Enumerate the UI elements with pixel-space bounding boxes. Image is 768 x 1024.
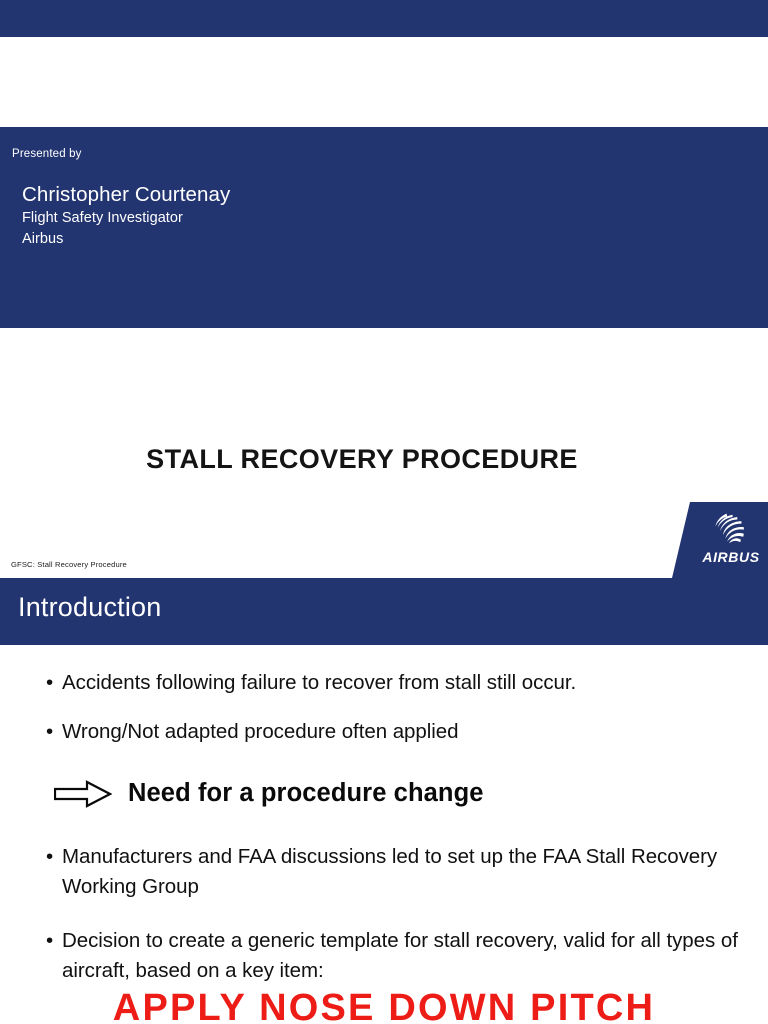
title-slide: Presented by Christopher Courtenay Fligh… <box>0 0 768 578</box>
presented-by-label: Presented by <box>12 148 82 160</box>
list-item: • Manufacturers and FAA discussions led … <box>0 842 768 902</box>
bullet-marker-icon: • <box>46 842 62 872</box>
emphasis-text: Need for a procedure change <box>128 772 484 814</box>
introduction-slide: Introduction • Accidents following failu… <box>0 578 768 1024</box>
list-item: • Wrong/Not adapted procedure often appl… <box>0 717 768 747</box>
page-title: STALL RECOVERY PROCEDURE <box>0 444 724 475</box>
list-item-text: Decision to create a generic template fo… <box>0 926 768 986</box>
presenter-company: Airbus <box>22 231 63 247</box>
list-item-text: Wrong/Not adapted procedure often applie… <box>0 717 768 747</box>
bullet-marker-icon: • <box>46 926 62 956</box>
list-item-text: Accidents following failure to recover f… <box>0 668 768 698</box>
presentation-page: Presented by Christopher Courtenay Fligh… <box>0 0 768 1024</box>
presenter-role: Flight Safety Investigator <box>22 210 183 226</box>
airbus-wordmark: AIRBUS <box>696 549 766 565</box>
presenter-block: Presented by Christopher Courtenay Fligh… <box>0 127 768 328</box>
top-blue-bar <box>0 0 768 37</box>
section-heading: Introduction <box>18 592 162 623</box>
slide-footer-note: GFSC: Stall Recovery Procedure <box>11 560 127 569</box>
list-item: • Accidents following failure to recover… <box>0 668 768 698</box>
section-header-band: Introduction <box>0 578 768 645</box>
key-item-callout: APPLY NOSE DOWN PITCH <box>0 987 768 1024</box>
emphasis-row: Need for a procedure change <box>0 772 768 816</box>
presenter-name: Christopher Courtenay <box>22 183 230 207</box>
bullet-marker-icon: • <box>46 717 62 747</box>
airbus-swirl-icon <box>710 510 748 548</box>
list-item-text: Manufacturers and FAA discussions led to… <box>0 842 768 902</box>
right-block-arrow-icon <box>54 780 112 808</box>
airbus-logo-plate: AIRBUS <box>672 502 768 578</box>
bullet-marker-icon: • <box>46 668 62 698</box>
introduction-content: • Accidents following failure to recover… <box>0 645 768 986</box>
list-item: • Decision to create a generic template … <box>0 926 768 986</box>
